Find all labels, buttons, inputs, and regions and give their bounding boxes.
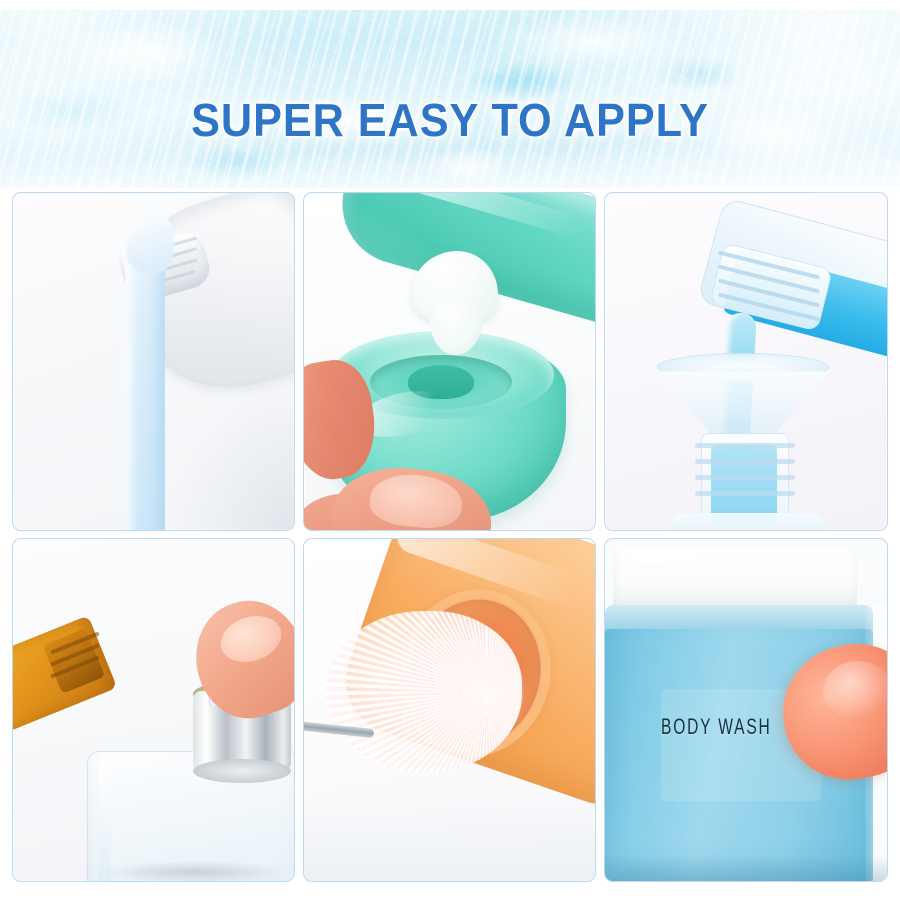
photo-clean-bottle-with-brush: [304, 539, 595, 881]
photo-squeeze-cream-into-silicone-jar: [304, 193, 595, 530]
glass-thread-line: [695, 475, 795, 480]
photo-fill-perfume-bottle-from-amber-vial: [13, 539, 294, 881]
glass-thread-line: [695, 443, 795, 448]
glass-thread-line: [695, 459, 795, 464]
grid-cell-pour-lotion[interactable]: [12, 192, 295, 531]
bottle-shadow: [105, 861, 285, 881]
atomizer-collar-base-shape: [193, 759, 291, 783]
lotion-stream-shape: [125, 229, 165, 530]
infographic-page: SUPER EASY TO APPLY: [0, 0, 900, 900]
corner-shading: [174, 380, 294, 530]
grid-cell-fill-perfume-bottle[interactable]: [12, 538, 295, 882]
perfume-bottle-edge-highlight: [99, 761, 111, 881]
glass-bottle-body-shape: [667, 513, 827, 530]
brush-white-bristles-shape: [326, 611, 522, 773]
surface-shading: [304, 797, 595, 881]
glass-thread-line: [695, 491, 795, 496]
cap-highlight: [633, 551, 783, 565]
bottle-bottom-shading: [605, 855, 887, 881]
thumb-highlight: [823, 661, 887, 721]
grid-cell-clean-with-brush[interactable]: [303, 538, 596, 882]
page-title: SUPER EASY TO APPLY: [27, 96, 873, 144]
photo-squeeze-body-wash-bottle: BODY WASH: [605, 539, 887, 881]
water-background-banner: SUPER EASY TO APPLY: [0, 10, 900, 188]
photo-pour-lotion-into-travel-bottle: [13, 193, 294, 530]
grid-cell-pour-through-funnel[interactable]: [604, 192, 888, 531]
grid-cell-body-wash-bottle[interactable]: BODY WASH: [604, 538, 888, 882]
grid-cell-squeeze-cream[interactable]: [303, 192, 596, 531]
photo-pour-blue-liquid-through-funnel: [605, 193, 887, 530]
photo-grid: BODY WASH: [12, 192, 888, 882]
